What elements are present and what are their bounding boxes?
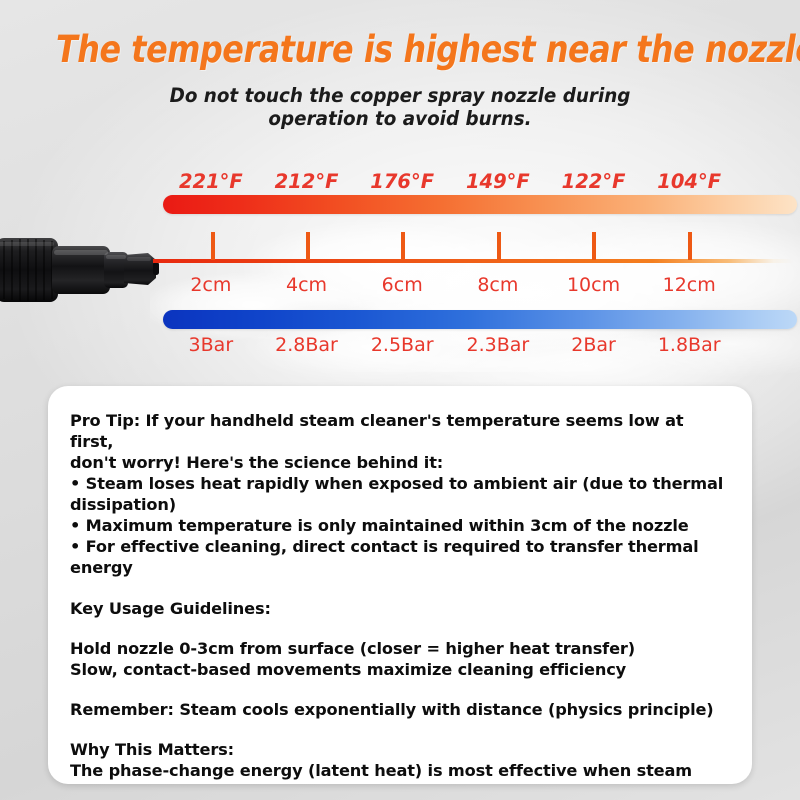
spacer [70, 619, 730, 638]
temperature-value: 149°F [466, 170, 530, 193]
pro-tip-bullet-2: • Maximum temperature is only maintained… [70, 515, 730, 536]
pressure-label-2cm: 3Bar [163, 334, 259, 356]
guidelines-heading: Key Usage Guidelines: [70, 598, 730, 619]
distance-label-12cm: 12cm [641, 274, 737, 296]
pressure-label-6cm: 2.5Bar [354, 334, 450, 356]
distance-label-2cm: 2cm [163, 274, 259, 296]
guideline-1: Hold nozzle 0-3cm from surface (closer =… [70, 638, 730, 659]
distance-value: 12cm [663, 274, 716, 296]
temperature-gradient-bar [163, 195, 797, 214]
pressure-label-4cm: 2.8Bar [259, 334, 355, 356]
subtitle-line-2: operation to avoid burns. [24, 108, 776, 131]
pressure-label-row: 3Bar 2.8Bar 2.5Bar 2.3Bar 2Bar 1.8Bar [163, 334, 737, 356]
temperature-label-10cm: 122°F [546, 170, 642, 193]
info-panel-content: Pro Tip: If your handheld steam cleaner'… [48, 386, 752, 781]
temperature-label-12cm: 104°F [641, 170, 737, 193]
tick-6cm [401, 232, 405, 260]
tick-8cm [497, 232, 501, 260]
temperature-value: 122°F [562, 170, 626, 193]
page-subtitle: Do not touch the copper spray nozzle dur… [24, 71, 776, 131]
subtitle-line-1: Do not touch the copper spray nozzle dur… [24, 85, 776, 108]
infographic-root: The temperature is highest near the nozz… [0, 0, 800, 800]
pro-tip-line-1: Pro Tip: If your handheld steam cleaner'… [70, 410, 730, 452]
temperature-value: 104°F [657, 170, 721, 193]
temperature-value: 221°F [179, 170, 243, 193]
spacer [70, 579, 730, 598]
info-panel: Pro Tip: If your handheld steam cleaner'… [48, 386, 752, 784]
distance-value: 2cm [190, 274, 231, 296]
temperature-value: 212°F [275, 170, 339, 193]
header: The temperature is highest near the nozz… [0, 0, 800, 131]
distance-value: 8cm [477, 274, 518, 296]
pro-tip-bullet-1: • Steam loses heat rapidly when exposed … [70, 473, 730, 515]
page-title: The temperature is highest near the nozz… [56, 0, 744, 71]
remember-note: Remember: Steam cools exponentially with… [70, 699, 730, 720]
temperature-label-6cm: 176°F [354, 170, 450, 193]
tick-12cm [688, 232, 692, 260]
nozzle-graphic [0, 222, 172, 318]
pressure-value: 2Bar [571, 334, 616, 356]
pro-tip-bullet-3: • For effective cleaning, direct contact… [70, 536, 730, 578]
spacer [70, 720, 730, 739]
pressure-gradient-bar [163, 310, 797, 329]
temperature-label-4cm: 212°F [259, 170, 355, 193]
pressure-value: 1.8Bar [658, 334, 721, 356]
why-heading: Why This Matters: [70, 739, 730, 760]
pressure-value: 2.8Bar [275, 334, 338, 356]
pressure-label-10cm: 2Bar [546, 334, 642, 356]
nozzle-icon [0, 222, 172, 318]
tick-4cm [306, 232, 310, 260]
distance-label-4cm: 4cm [259, 274, 355, 296]
distance-label-row: 2cm 4cm 6cm 8cm 10cm 12cm [163, 274, 737, 296]
tick-2cm [211, 232, 215, 260]
temperature-label-2cm: 221°F [163, 170, 259, 193]
temperature-label-8cm: 149°F [450, 170, 546, 193]
distance-axis-line [153, 259, 793, 263]
distance-value: 4cm [286, 274, 327, 296]
why-text: The phase-change energy (latent heat) is… [70, 760, 730, 781]
pressure-value: 2.3Bar [466, 334, 529, 356]
distance-label-10cm: 10cm [546, 274, 642, 296]
tick-10cm [592, 232, 596, 260]
pressure-value: 2.5Bar [371, 334, 434, 356]
distance-value: 10cm [567, 274, 620, 296]
pressure-value: 3Bar [189, 334, 234, 356]
distance-value: 6cm [382, 274, 423, 296]
distance-label-6cm: 6cm [354, 274, 450, 296]
temperature-label-row: 221°F 212°F 176°F 149°F 122°F 104°F [163, 170, 737, 193]
pressure-label-8cm: 2.3Bar [450, 334, 546, 356]
distance-label-8cm: 8cm [450, 274, 546, 296]
temperature-value: 176°F [370, 170, 434, 193]
spacer [70, 680, 730, 699]
guideline-2: Slow, contact-based movements maximize c… [70, 659, 730, 680]
pressure-label-12cm: 1.8Bar [641, 334, 737, 356]
pro-tip-line-2: don't worry! Here's the science behind i… [70, 452, 730, 473]
